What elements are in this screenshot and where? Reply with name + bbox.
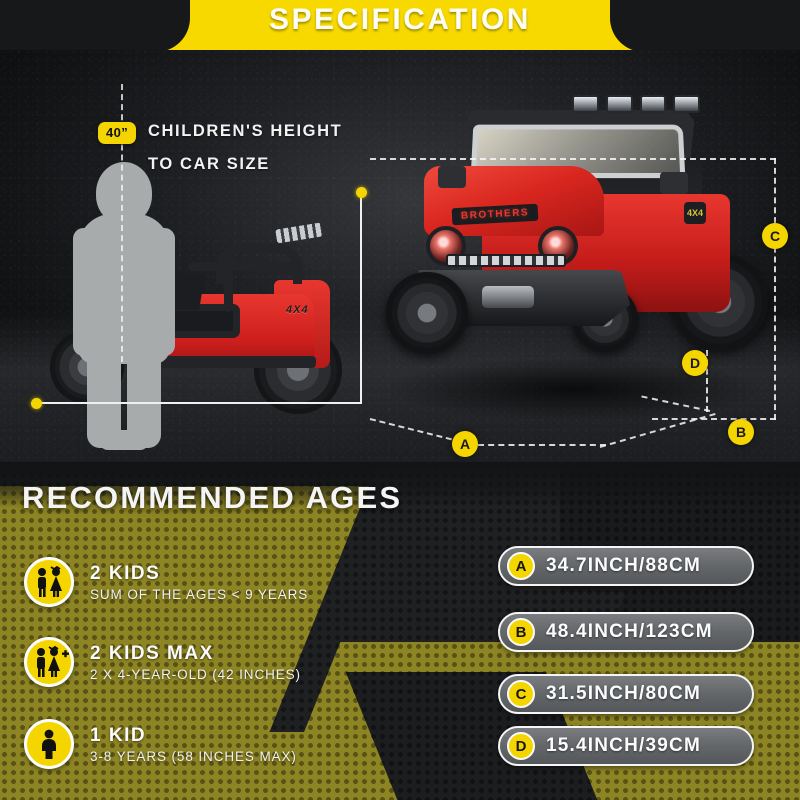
two-kids-icon [24,557,74,607]
height-badge: 40” [98,122,136,144]
roof-lamp [673,95,700,113]
dimension-value-d: 15.4INCH/39CM [546,735,701,757]
side-vehicle-badge: 4X4 [286,304,309,316]
main-grille-light-row [446,254,566,267]
comparison-caption-line1: CHILDREN'S HEIGHT [148,122,342,141]
main-winch [482,286,534,308]
roof-lamp [640,95,667,113]
silhouette-head [96,162,152,224]
main-roof-light-bar [572,94,700,114]
dimension-badge-a: A [507,552,535,580]
dimension-badge-c: C [507,680,535,708]
scale-dot-top-right [356,187,367,198]
age-row: 2 KIDS MAX 2 X 4-YEAR-OLD (42 INCHES) [24,630,454,694]
age-headline: 2 KIDS MAX [90,643,301,665]
age-detail: 3-8 YEARS (58 INCHES MAX) [90,749,297,764]
silhouette-torso [78,214,170,364]
main-rear-badge: 4X4 [684,202,706,224]
side-cage-rail [188,262,298,271]
side-cage-post-rear [224,252,233,312]
one-kid-icon [24,719,74,769]
side-light-bar [275,222,323,243]
main-vehicle: 4X4 BROTHERS [376,58,776,454]
two-kids-max-icon [24,637,74,687]
age-detail: SUM OF THE AGES < 9 YEARS [90,587,308,602]
vehicle-shadow [388,358,760,420]
dimension-pill-c: C 31.5INCH/80CM [498,674,754,714]
header-banner: SPECIFICATION [0,0,800,52]
scale-dot-bottom-left [31,398,42,409]
age-row: 1 KID 3-8 YEARS (58 INCHES MAX) [24,712,454,776]
product-photo-stage: CHILDREN'S HEIGHT TO CAR SIZE 4X4 [0,50,800,462]
age-text-block: 1 KID 3-8 YEARS (58 INCHES MAX) [90,725,297,764]
age-text-block: 2 KIDS MAX 2 X 4-YEAR-OLD (42 INCHES) [90,643,301,682]
dimension-badge-b: B [507,618,535,646]
scale-rule-bottom [36,402,362,404]
dimension-pill-d: D 15.4INCH/39CM [498,726,754,766]
dimension-pill-a: A 34.7INCH/88CM [498,546,754,586]
dimension-value-c: 31.5INCH/80CM [546,683,701,705]
scale-rule-right [360,192,362,404]
main-mirror-left [438,166,466,188]
age-headline: 1 KID [90,725,297,747]
dimension-badge-d: D [507,732,535,760]
page-title: SPECIFICATION [0,3,800,37]
child-silhouette [72,162,176,448]
roof-lamp [572,95,599,113]
silhouette-foot-right [109,430,149,450]
main-front-wheel [386,272,468,354]
age-detail: 2 X 4-YEAR-OLD (42 INCHES) [90,667,301,682]
main-mirror-right [660,172,688,194]
age-headline: 2 KIDS [90,563,308,585]
dimension-pill-b: B 48.4INCH/123CM [498,612,754,652]
age-text-block: 2 KIDS SUM OF THE AGES < 9 YEARS [90,563,308,602]
dimension-value-a: 34.7INCH/88CM [546,555,701,577]
age-row: 2 KIDS SUM OF THE AGES < 9 YEARS [24,550,454,614]
specification-infographic: SPECIFICATION CHILDREN'S HEIGHT TO CAR S… [0,0,800,800]
section-title: RECOMMENDED AGES [22,480,402,516]
height-comparison-panel: CHILDREN'S HEIGHT TO CAR SIZE 4X4 [20,60,360,456]
roof-lamp [606,95,633,113]
dimension-value-b: 48.4INCH/123CM [546,621,713,643]
